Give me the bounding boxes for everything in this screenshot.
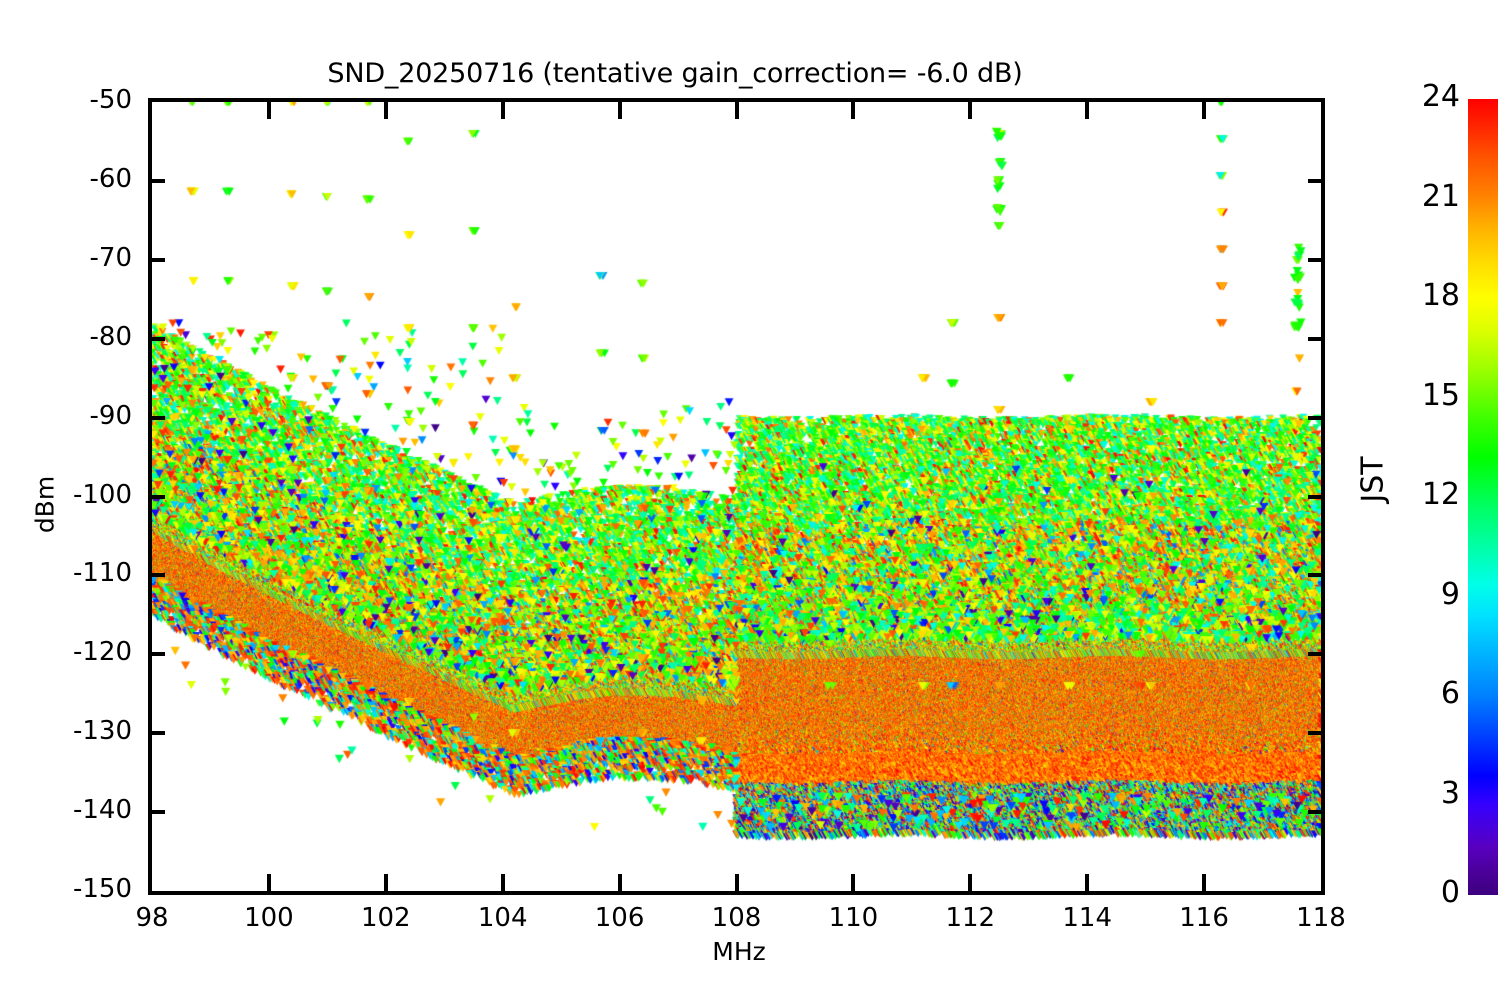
x-tick-top: [618, 98, 622, 119]
y-tick-right: [1308, 652, 1325, 656]
colorbar-tick-label: 24: [1390, 79, 1460, 114]
x-tick-top: [1085, 98, 1089, 119]
x-tick-label: 106: [575, 903, 665, 933]
y-tick-right: [1308, 810, 1325, 814]
y-tick-right: [1308, 258, 1325, 262]
y-tick-label: -50: [22, 85, 132, 115]
scatter-canvas: [152, 102, 1321, 891]
colorbar-label: JST: [1356, 425, 1391, 535]
colorbar-tick-label: 12: [1390, 477, 1460, 512]
x-tick-label: 114: [1042, 903, 1132, 933]
y-tick-label: -120: [22, 637, 132, 667]
y-tick-left: [148, 258, 165, 262]
x-tick-bottom: [267, 874, 271, 895]
spectrum-plot-page: SND_20250716 (tentative gain_correction=…: [0, 0, 1500, 1000]
y-tick-right: [1308, 416, 1325, 420]
x-tick-bottom: [1085, 874, 1089, 895]
y-tick-right: [1308, 573, 1325, 577]
y-tick-left: [148, 416, 165, 420]
x-tick-bottom: [968, 874, 972, 895]
y-tick-left: [148, 652, 165, 656]
y-tick-label: -70: [22, 243, 132, 273]
x-tick-bottom: [851, 874, 855, 895]
y-tick-left: [148, 179, 165, 183]
y-tick-right: [1308, 179, 1325, 183]
colorbar-tick-label: 9: [1390, 577, 1460, 612]
x-tick-label: 104: [458, 903, 548, 933]
x-tick-top: [384, 98, 388, 119]
colorbar-tick-label: 21: [1390, 179, 1460, 214]
y-tick-left: [148, 731, 165, 735]
x-tick-bottom: [1202, 874, 1206, 895]
x-tick-bottom: [618, 874, 622, 895]
x-tick-label: 118: [1276, 903, 1366, 933]
y-tick-left: [148, 810, 165, 814]
page-title: SND_20250716 (tentative gain_correction=…: [0, 58, 1350, 89]
x-tick-label: 110: [808, 903, 898, 933]
x-axis-label: MHz: [694, 937, 784, 966]
x-tick-top: [968, 98, 972, 119]
colorbar-tick-label: 0: [1390, 875, 1460, 910]
colorbar-tick-label: 6: [1390, 676, 1460, 711]
y-tick-left: [148, 573, 165, 577]
y-tick-label: -130: [22, 716, 132, 746]
y-tick-right: [1308, 495, 1325, 499]
x-tick-top: [735, 98, 739, 119]
y-tick-label: -150: [22, 874, 132, 904]
x-tick-label: 100: [224, 903, 314, 933]
x-tick-top: [501, 98, 505, 119]
x-tick-label: 98: [107, 903, 197, 933]
x-tick-bottom: [735, 874, 739, 895]
x-tick-top: [851, 98, 855, 119]
y-tick-right: [1308, 731, 1325, 735]
colorbar-tick-label: 15: [1390, 378, 1460, 413]
y-tick-label: -90: [22, 401, 132, 431]
y-axis-label: dBm: [31, 445, 60, 565]
y-tick-right: [1308, 337, 1325, 341]
x-tick-bottom: [384, 874, 388, 895]
x-tick-label: 116: [1159, 903, 1249, 933]
x-tick-label: 102: [341, 903, 431, 933]
y-tick-label: -80: [22, 322, 132, 352]
y-tick-left: [148, 495, 165, 499]
x-tick-label: 112: [925, 903, 1015, 933]
x-tick-top: [1202, 98, 1206, 119]
y-tick-left: [148, 337, 165, 341]
colorbar-tick-label: 3: [1390, 776, 1460, 811]
plot-area: [148, 98, 1325, 895]
x-tick-bottom: [501, 874, 505, 895]
y-tick-label: -140: [22, 795, 132, 825]
y-tick-label: -60: [22, 164, 132, 194]
colorbar-tick-label: 18: [1390, 278, 1460, 313]
x-tick-label: 108: [692, 903, 782, 933]
x-tick-top: [267, 98, 271, 119]
colorbar: [1468, 99, 1498, 895]
